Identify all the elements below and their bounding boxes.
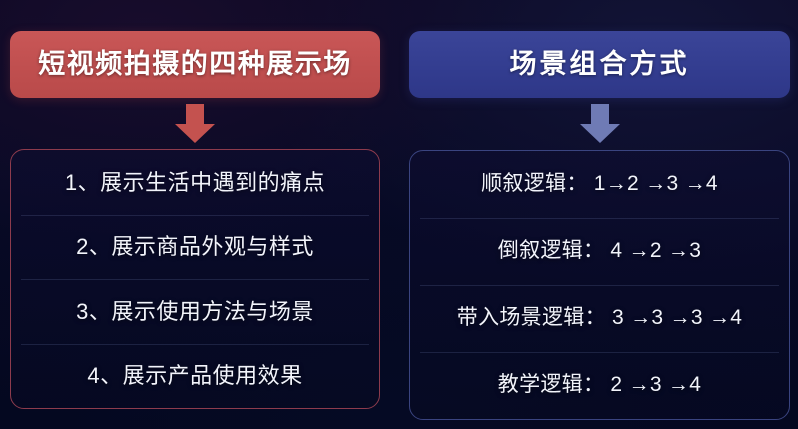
list-item-label: 顺叙逻辑： 1→2 →3 →4 — [481, 172, 718, 196]
banner-scene-combination[interactable]: 场景组合方式 — [409, 31, 790, 98]
panel-shooting-scenes: 1、展示生活中遇到的痛点 2、展示商品外观与样式 3、展示使用方法与场景 4、展… — [10, 149, 380, 409]
list-item[interactable]: 带入场景逻辑： 3 →3 →3 →4 — [410, 285, 789, 352]
slide-canvas: 短视频拍摄的四种展示场 1、展示生活中遇到的痛点 2、展示商品外观与样式 3、展… — [0, 0, 798, 429]
list-item-label: 2、展示商品外观与样式 — [76, 234, 314, 259]
banner-shooting-scenes[interactable]: 短视频拍摄的四种展示场 — [10, 31, 380, 98]
column-scene-combination: 场景组合方式 顺叙逻辑： 1→2 →3 →4 倒叙逻辑： 4 →2 →3 带入场… — [409, 0, 790, 429]
list-item[interactable]: 1、展示生活中遇到的痛点 — [11, 150, 379, 215]
list-item[interactable]: 3、展示使用方法与场景 — [11, 279, 379, 344]
list-item[interactable]: 4、展示产品使用效果 — [11, 344, 379, 409]
list-item-label: 带入场景逻辑： 3 →3 →3 →4 — [457, 306, 742, 330]
list-item-label: 1、展示生活中遇到的痛点 — [65, 170, 325, 195]
list-item[interactable]: 2、展示商品外观与样式 — [11, 215, 379, 280]
column-shooting-scenes: 短视频拍摄的四种展示场 1、展示生活中遇到的痛点 2、展示商品外观与样式 3、展… — [10, 0, 380, 429]
banner-label: 场景组合方式 — [510, 51, 690, 78]
banner-label: 短视频拍摄的四种展示场 — [38, 51, 352, 78]
list-item-label: 3、展示使用方法与场景 — [76, 299, 314, 324]
list-item[interactable]: 教学逻辑： 2 →3 →4 — [410, 352, 789, 419]
list-item-label: 4、展示产品使用效果 — [87, 363, 302, 388]
list-item-label: 倒叙逻辑： 4 →2 →3 — [498, 239, 701, 263]
list-item[interactable]: 倒叙逻辑： 4 →2 →3 — [410, 218, 789, 285]
down-arrow-icon — [578, 104, 622, 144]
panel-scene-combination: 顺叙逻辑： 1→2 →3 →4 倒叙逻辑： 4 →2 →3 带入场景逻辑： 3 … — [409, 150, 790, 420]
down-arrow-icon — [173, 104, 217, 144]
list-item-label: 教学逻辑： 2 →3 →4 — [498, 373, 701, 397]
list-item[interactable]: 顺叙逻辑： 1→2 →3 →4 — [410, 151, 789, 218]
